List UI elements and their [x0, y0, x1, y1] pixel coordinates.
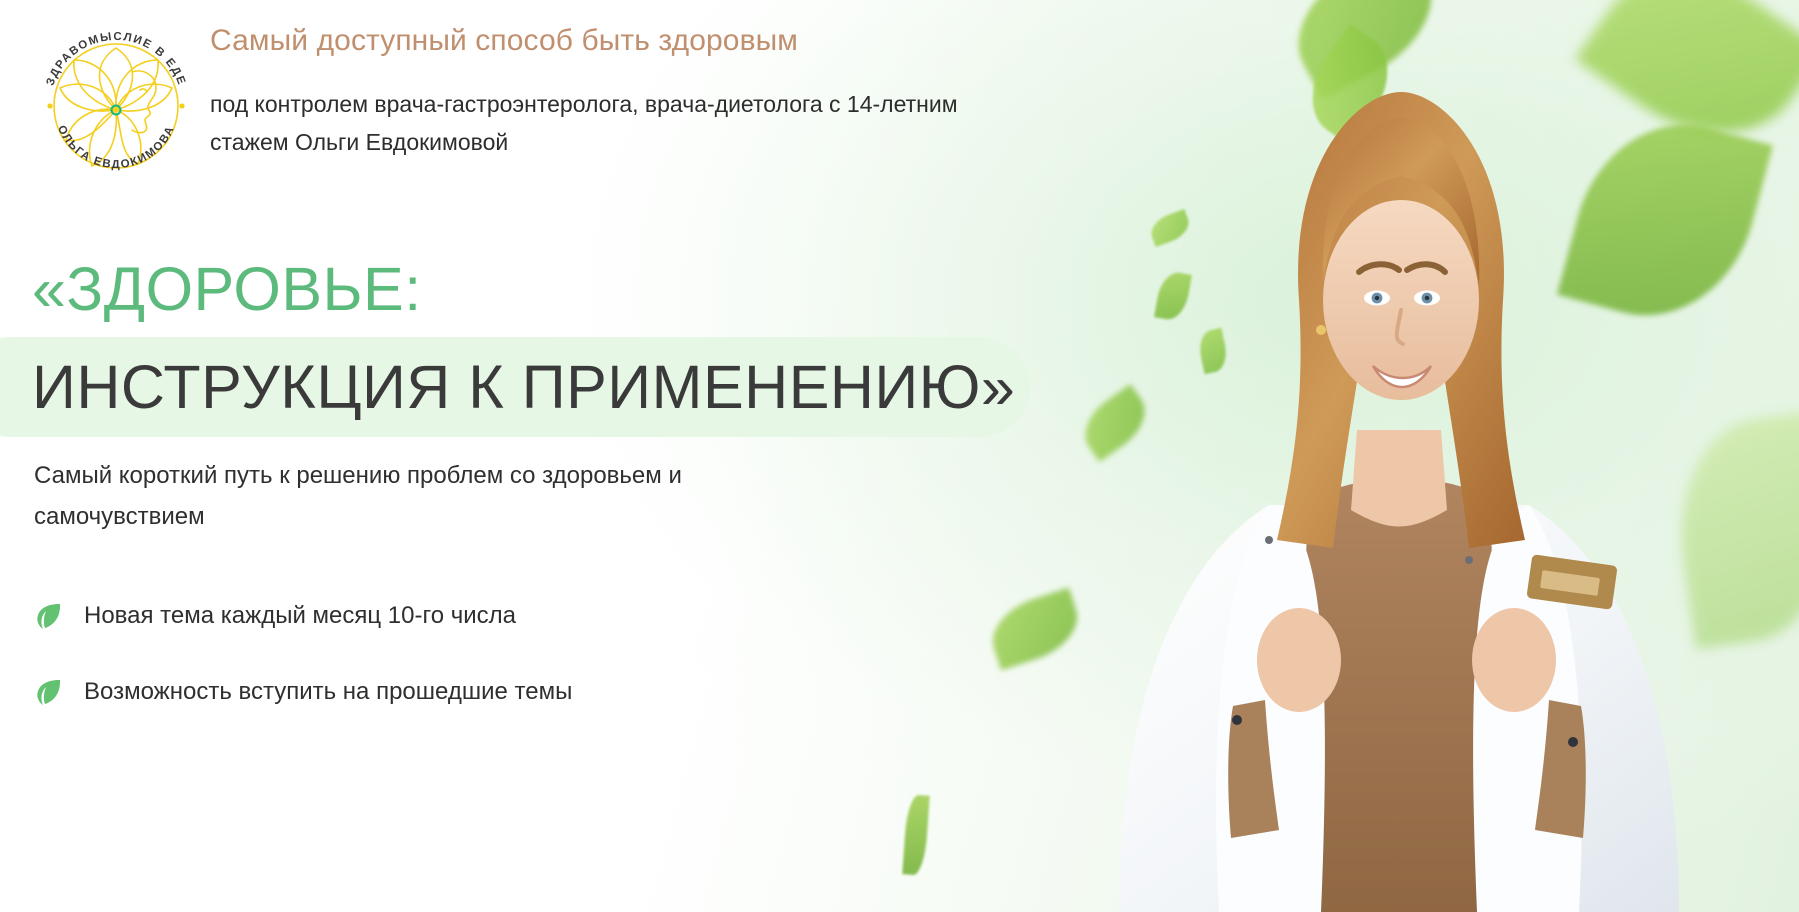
- list-item-label: Новая тема каждый месяц 10-го числа: [84, 601, 516, 631]
- coat-button: [1568, 737, 1578, 747]
- list-item-label: Возможность вступить на прошедшие темы: [84, 677, 572, 707]
- leaf-decor-icon: [902, 794, 930, 875]
- eyebrow-left: [1359, 264, 1399, 272]
- leaf-icon: [34, 601, 64, 631]
- hair: [1277, 92, 1525, 548]
- name-badge: [1526, 554, 1617, 610]
- sleeve-right: [1535, 700, 1586, 838]
- brand-logo[interactable]: ЗДРАВОМЫСЛИЕ В ЕДЕ ОЛЬГА ЕВДОКИМОВА: [28, 18, 204, 194]
- page-title-line1: «ЗДОРОВЬЕ:: [32, 254, 422, 324]
- hand-left: [1257, 608, 1341, 712]
- hair-fringe: [1323, 118, 1479, 285]
- face: [1323, 200, 1479, 400]
- hand-right: [1472, 608, 1556, 712]
- page-tagline: Самый доступный способ быть здоровым: [210, 24, 798, 58]
- doctor-portrait: [969, 0, 1799, 912]
- logo-top-text: ЗДРАВОМЫСЛИЕ В ЕДЕ: [44, 31, 187, 88]
- lab-coat: [1119, 505, 1679, 912]
- coat-button: [1232, 715, 1242, 725]
- name-badge-plate: [1540, 570, 1600, 596]
- leaf-decor-icon: [1575, 0, 1799, 174]
- leaf-decor-icon: [1367, 293, 1407, 329]
- list-item: Новая тема каждый месяц 10-го числа: [34, 578, 854, 654]
- lotus-face-emblem-icon: ЗДРАВОМЫСЛИЕ В ЕДЕ ОЛЬГА ЕВДОКИМОВА: [28, 18, 204, 194]
- nose: [1397, 310, 1403, 344]
- list-item: Возможность вступить на прошедшие темы: [34, 654, 854, 730]
- smile: [1373, 366, 1431, 387]
- leaf-decor-icon: [1305, 206, 1373, 271]
- leaf-decor-icon: [1665, 411, 1799, 650]
- benefits-list: Новая тема каждый месяц 10-го числа Возм…: [34, 578, 854, 730]
- leaf-decor-icon: [1196, 328, 1230, 374]
- inner-top: [1284, 479, 1514, 912]
- leaf-decor-icon: [1073, 384, 1157, 462]
- page-subtitle: под контролем врача-гастроэнтеролога, вр…: [210, 85, 970, 161]
- leaf-decor-icon: [1275, 0, 1454, 99]
- leaf-decor-icon: [1293, 24, 1408, 146]
- leaf-decor-icon: [1147, 209, 1193, 247]
- page-lead-text: Самый короткий путь к решению проблем со…: [34, 455, 794, 537]
- sleeve-left: [1228, 700, 1279, 838]
- coat-lapel-right: [1473, 505, 1582, 912]
- leaf-decor-icon: [983, 588, 1087, 671]
- page-title-line2: ИНСТРУКЦИЯ К ПРИМЕНЕНИЮ»: [32, 350, 1015, 424]
- eye-right: [1414, 291, 1440, 306]
- leaf-decor-icon: [1557, 101, 1773, 338]
- eye-left: [1364, 291, 1390, 306]
- coat-button: [1465, 556, 1473, 564]
- eyebrow-right: [1407, 264, 1445, 272]
- leaf-decor-icon: [1154, 270, 1192, 322]
- coat-button: [1265, 536, 1273, 544]
- hero-banner: ЗДРАВОМЫСЛИЕ В ЕДЕ ОЛЬГА ЕВДОКИМОВА: [0, 0, 1799, 912]
- coat-lapel-left: [1216, 505, 1325, 912]
- leaf-icon: [34, 677, 64, 707]
- neck: [1351, 430, 1447, 527]
- earring: [1316, 325, 1326, 335]
